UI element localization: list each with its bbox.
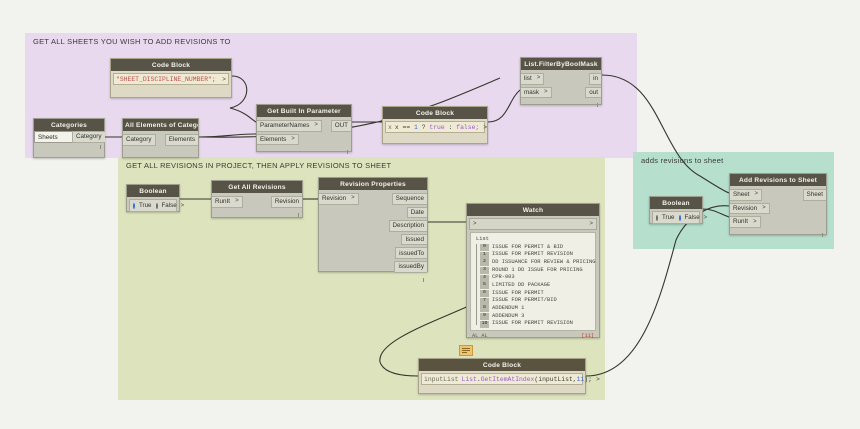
list-item[interactable]: 1 ISSUE FOR PERMIT REVISION	[474, 251, 592, 259]
port-label: issuedBy	[398, 263, 424, 270]
port-label: Revision	[275, 198, 299, 205]
list-item[interactable]: 4 CPR-003	[474, 274, 592, 282]
chevron-right-icon[interactable]: >	[753, 219, 757, 226]
output-port-caret[interactable]: >	[704, 215, 708, 221]
code-text: "SHEET_DISCIPLINE_NUMBER";	[116, 76, 216, 83]
output-port-sheet[interactable]: Sheet	[803, 189, 826, 201]
output-port-caret[interactable]: >	[218, 76, 226, 83]
node-all-elements-of-category[interactable]: All Elements of Category Category Elemen…	[122, 118, 199, 158]
node-footer	[730, 231, 826, 238]
port-label: in	[593, 75, 598, 82]
radio-false[interactable]	[156, 203, 158, 209]
watch-port-row: > >	[469, 218, 597, 230]
node-title: Get Built In Parameter	[257, 105, 351, 117]
list-item[interactable]: 9 ADDENDUM 3	[474, 313, 592, 321]
categories-output-port-category[interactable]: Category	[72, 131, 105, 143]
list-item-value: LIMITED DD PACKAGE	[492, 282, 550, 290]
boolean-radio-group[interactable]: True False >	[652, 211, 700, 224]
node-boolean-add[interactable]: Boolean True False >	[649, 196, 703, 224]
input-ports: ParameterNames > Elements >	[257, 117, 322, 148]
node-title: Revision Properties	[319, 178, 427, 190]
output-port-description[interactable]: Description	[389, 220, 428, 232]
input-port-elements[interactable]: Elements >	[257, 134, 299, 146]
list-item[interactable]: 7 ISSUE FOR PERMIT/BID	[474, 297, 592, 305]
input-ports: RunIt >	[212, 193, 243, 211]
radio-false-label: False	[685, 214, 700, 221]
node-list-filter-by-bool-mask[interactable]: List.FilterByBoolMask list > mask > in o…	[520, 57, 602, 105]
list-item-value: ADDENDUM 3	[492, 313, 524, 321]
radio-true[interactable]	[656, 215, 658, 221]
node-footer	[34, 143, 104, 150]
node-footer	[212, 211, 302, 218]
list-item-index: 7	[480, 298, 489, 305]
chevron-right-icon[interactable]: >	[544, 89, 548, 96]
port-label: OUT	[335, 122, 348, 129]
group-sheets-title: GET ALL SHEETS YOU WISH TO ADD REVISIONS…	[33, 37, 231, 46]
port-label: mask	[524, 89, 539, 96]
output-ports: in out	[585, 70, 601, 101]
node-boolean-revisions[interactable]: Boolean True False >	[126, 184, 180, 212]
watch-list-preview[interactable]: List 0 ISSUE FOR PERMIT & BID 1 ISSUE FO…	[470, 232, 596, 331]
port-label: RunIt	[215, 198, 230, 205]
output-port-in[interactable]: in	[589, 73, 601, 85]
output-ports: Revision	[271, 193, 302, 211]
output-port-sequence[interactable]: Sequence	[392, 193, 427, 205]
node-get-built-in-parameter[interactable]: Get Built In Parameter ParameterNames > …	[256, 104, 352, 152]
dynamo-canvas[interactable]: GET ALL SHEETS YOU WISH TO ADD REVISIONS…	[0, 0, 860, 429]
node-get-all-revisions[interactable]: Get All Revisions RunIt > Revision	[211, 180, 303, 218]
list-item[interactable]: 5 LIMITED DD PACKAGE	[474, 282, 592, 290]
node-title: Watch	[467, 204, 599, 216]
output-ports: Sequence Date Description Issued issuedT…	[389, 190, 428, 276]
radio-true[interactable]	[133, 203, 135, 209]
chevron-right-icon[interactable]: >	[314, 122, 318, 129]
output-port-caret[interactable]: >	[589, 221, 593, 227]
output-port-caret[interactable]: >	[479, 124, 487, 131]
list-item-index: 4	[480, 275, 489, 282]
output-port-date[interactable]: Date	[407, 207, 427, 219]
code-text: List.GetItemAtIndex(inputList,11);	[462, 376, 592, 383]
node-code-block-bool[interactable]: Code Block x x == 1 ? true : false; >	[382, 106, 488, 144]
list-item-index: 3	[480, 267, 489, 274]
chevron-right-icon[interactable]: >	[762, 205, 766, 212]
input-port-revision[interactable]: Revision >	[730, 203, 770, 215]
categories-selected-value: Sheets	[38, 134, 58, 141]
node-title: Categories	[34, 119, 104, 131]
output-port-revision[interactable]: Revision	[271, 196, 302, 208]
list-item-value: CPR-003	[492, 274, 515, 282]
node-ports: Category Elements	[123, 131, 198, 149]
chevron-right-icon[interactable]: >	[754, 191, 758, 198]
list-item-value: ISSUE FOR PERMIT REVISION	[492, 320, 573, 328]
output-port-caret[interactable]: >	[592, 376, 600, 383]
chevron-right-icon[interactable]: >	[291, 136, 295, 143]
list-item-index: 0	[480, 244, 489, 251]
output-ports: Elements	[165, 131, 198, 149]
input-port-caret[interactable]: >	[473, 221, 477, 227]
group-add-revisions-title: adds revisions to sheet	[641, 156, 723, 165]
input-port-category[interactable]: Category	[123, 134, 156, 146]
port-label: issuedTo	[399, 250, 424, 257]
node-title: Code Block	[111, 59, 231, 71]
watch-list-label: List	[474, 236, 592, 244]
input-port-inputlist[interactable]: inputList	[424, 376, 462, 383]
node-ports: Sheet > Revision > RunIt > Sheet	[730, 186, 826, 231]
input-ports: Sheet > Revision > RunIt >	[730, 186, 770, 231]
port-label: Issued	[405, 236, 424, 243]
port-label: Category	[76, 133, 102, 140]
output-port-out[interactable]: out	[585, 87, 601, 99]
output-port-out[interactable]: OUT	[331, 120, 351, 132]
node-ports: RunIt > Revision	[212, 193, 302, 211]
output-port-caret[interactable]: >	[181, 203, 185, 209]
code-editor-line[interactable]: inputList List.GetItemAtIndex(inputList,…	[421, 373, 583, 385]
node-title: Code Block	[419, 359, 585, 371]
chevron-right-icon[interactable]: >	[351, 195, 355, 202]
list-item-value: ISSUE FOR PERMIT & BID	[492, 244, 563, 252]
list-item-value: DD ISSUANCE FOR REVIEW & PRICING	[492, 259, 596, 267]
input-port-revision[interactable]: Revision >	[319, 193, 359, 205]
port-label: out	[589, 89, 598, 96]
list-item[interactable]: 6 ISSUE FOR PERMIT	[474, 290, 592, 298]
port-label: Sequence	[396, 195, 424, 202]
boolean-radio-group[interactable]: True False >	[129, 199, 177, 212]
chevron-right-icon[interactable]: >	[537, 75, 541, 82]
node-revision-properties[interactable]: Revision Properties Revision > Sequence …	[318, 177, 428, 272]
list-item[interactable]: 0 ISSUE FOR PERMIT & BID	[474, 244, 592, 252]
port-label: Revision	[733, 205, 757, 212]
list-item-value: ISSUE FOR PERMIT/BID	[492, 297, 557, 305]
output-port-elements[interactable]: Elements	[165, 134, 198, 146]
port-label: list	[524, 75, 532, 82]
watch-item-count: [11]	[582, 333, 594, 339]
node-title: Code Block	[383, 107, 487, 119]
input-port-mask[interactable]: mask >	[521, 87, 552, 99]
port-label: Category	[126, 136, 152, 143]
code-block-empty-area	[419, 387, 585, 397]
list-item-index: 5	[480, 282, 489, 289]
port-label: Elements	[169, 136, 195, 143]
node-code-block-get-item[interactable]: Code Block inputList List.GetItemAtIndex…	[418, 358, 586, 394]
list-item-index: 1	[480, 252, 489, 259]
node-title: Add Revisions to Sheet	[730, 174, 826, 186]
input-ports: Revision >	[319, 190, 359, 208]
list-item-index: 10	[480, 321, 489, 328]
code-editor-line[interactable]: "SHEET_DISCIPLINE_NUMBER"; >	[113, 73, 229, 85]
radio-false[interactable]	[679, 215, 681, 221]
input-port-parameternames[interactable]: ParameterNames >	[257, 120, 322, 132]
list-item-index: 6	[480, 290, 489, 297]
list-item[interactable]: 3 ROUND 1 DD ISSUE FOR PRICING	[474, 267, 592, 275]
input-ports: list > mask >	[521, 70, 552, 101]
list-item-value: ROUND 1 DD ISSUE FOR PRICING	[492, 267, 583, 275]
node-add-revisions-to-sheet[interactable]: Add Revisions to Sheet Sheet > Revision …	[729, 173, 827, 235]
output-port-issued[interactable]: Issued	[401, 234, 427, 246]
port-label: Description	[393, 222, 425, 229]
port-label: Sheet	[807, 191, 823, 198]
port-label: RunIt	[733, 218, 748, 225]
output-port-issuedto[interactable]: issuedTo	[395, 247, 427, 259]
code-block-empty-area	[383, 135, 487, 149]
code-block-empty-area	[111, 87, 231, 101]
output-ports: Sheet	[803, 186, 826, 204]
node-footer	[257, 148, 351, 155]
list-tree-line	[476, 244, 477, 325]
node-ports: Revision > Sequence Date Description Iss…	[319, 190, 427, 276]
code-text: x == 1 ? true : false;	[395, 124, 479, 131]
port-label: Elements	[260, 136, 286, 143]
port-label: Revision	[322, 195, 346, 202]
node-code-block-sheet-param[interactable]: Code Block "SHEET_DISCIPLINE_NUMBER"; >	[110, 58, 232, 98]
list-item-value: ISSUE FOR PERMIT REVISION	[492, 251, 573, 259]
watch-footer: AL AL [11]	[470, 332, 596, 340]
node-title: Boolean	[127, 185, 179, 197]
list-item-index: 8	[480, 305, 489, 312]
note-icon[interactable]	[459, 345, 473, 356]
radio-true-label: True	[139, 202, 152, 209]
code-editor-line[interactable]: x x == 1 ? true : false; >	[385, 121, 485, 133]
radio-true-label: True	[662, 214, 675, 221]
list-item-value: ISSUE FOR PERMIT	[492, 290, 544, 298]
watch-footer-label: AL AL	[472, 333, 488, 339]
input-port-runit[interactable]: RunIt >	[212, 196, 243, 208]
list-item[interactable]: 8 ADDENDUM 1	[474, 305, 592, 313]
list-item[interactable]: 2 DD ISSUANCE FOR REVIEW & PRICING	[474, 259, 592, 267]
input-port-list[interactable]: list >	[521, 73, 544, 85]
input-ports: Category	[123, 131, 156, 149]
port-label: Date	[411, 209, 424, 216]
port-label: ParameterNames	[260, 122, 309, 129]
list-item[interactable]: 10 ISSUE FOR PERMIT REVISION	[474, 320, 592, 328]
node-ports: ParameterNames > Elements > OUT	[257, 117, 351, 148]
radio-false-label: False	[162, 202, 177, 209]
list-item-value: ADDENDUM 1	[492, 305, 524, 313]
input-port-x[interactable]: x	[388, 124, 395, 131]
node-title: Get All Revisions	[212, 181, 302, 193]
output-ports: OUT	[331, 117, 351, 135]
input-port-sheet[interactable]: Sheet >	[730, 189, 762, 201]
output-port-issuedby[interactable]: issuedBy	[394, 261, 427, 273]
watch-list-items: 0 ISSUE FOR PERMIT & BID 1 ISSUE FOR PER…	[474, 244, 592, 328]
node-footer	[521, 101, 601, 108]
input-port-runit[interactable]: RunIt >	[730, 216, 761, 228]
node-ports: list > mask > in out	[521, 70, 601, 101]
list-item-index: 2	[480, 259, 489, 266]
node-title: Boolean	[650, 197, 702, 209]
node-title: All Elements of Category	[123, 119, 198, 131]
node-title: List.FilterByBoolMask	[521, 58, 601, 70]
list-item-index: 9	[480, 313, 489, 320]
node-watch[interactable]: Watch > > List 0 ISSUE FOR PERMIT & BID …	[466, 203, 600, 338]
chevron-right-icon[interactable]: >	[235, 198, 239, 205]
port-label: Sheet	[733, 191, 749, 198]
group-revisions-title: GET ALL REVISIONS IN PROJECT, THEN APPLY…	[126, 161, 391, 170]
node-footer	[319, 276, 427, 283]
